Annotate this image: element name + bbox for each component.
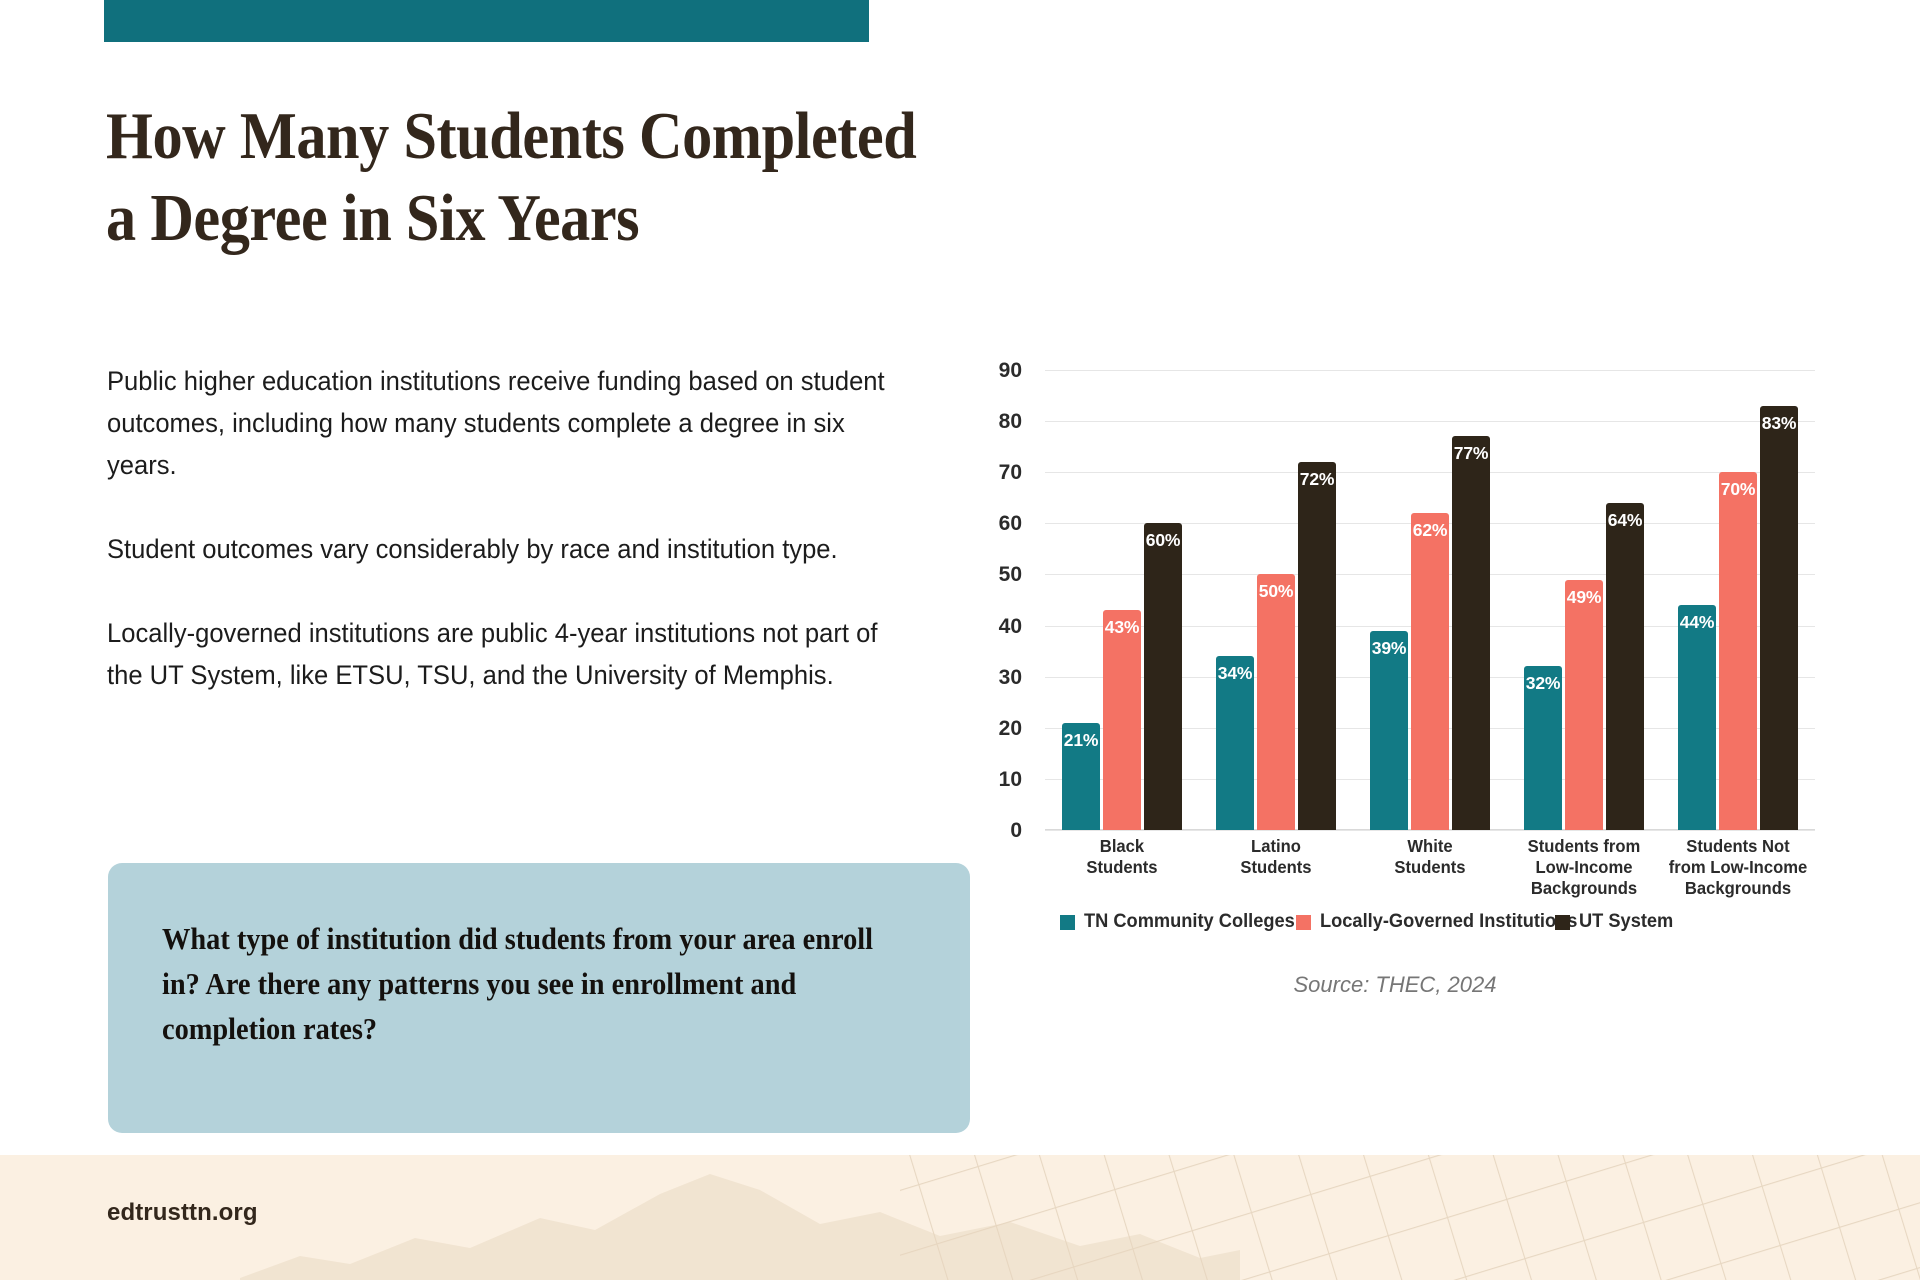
y-axis-tick-label: 60: [962, 512, 1022, 536]
bar: 60%: [1144, 523, 1182, 830]
category-label-line: Backgrounds: [1665, 878, 1811, 899]
y-axis-tick-label: 40: [962, 615, 1022, 639]
bar: 77%: [1452, 436, 1490, 830]
page-title: How Many Students Completed a Degree in …: [106, 96, 1366, 259]
x-axis-category-label: WhiteStudents: [1357, 836, 1503, 878]
bar: 62%: [1411, 513, 1449, 830]
mountain-silhouette-decoration: [240, 1160, 1240, 1280]
legend-color-swatch: [1060, 915, 1075, 930]
bar-value-label: 44%: [1678, 612, 1716, 633]
bar: 64%: [1606, 503, 1644, 830]
footer-url: edtrusttn.org: [107, 1199, 258, 1227]
category-label-line: Black: [1049, 836, 1195, 857]
legend-label: UT System: [1579, 911, 1673, 933]
bar-value-label: 43%: [1103, 617, 1141, 638]
bar-value-label: 39%: [1370, 638, 1408, 659]
title-line-1: How Many Students Completed: [106, 96, 1366, 178]
x-axis-category-label: LatinoStudents: [1203, 836, 1349, 878]
y-axis-tick-label: 30: [962, 666, 1022, 690]
bar-value-label: 72%: [1298, 469, 1336, 490]
bar-group: 32%49%64%: [1507, 370, 1661, 830]
bar-value-label: 77%: [1452, 443, 1490, 464]
paragraph-2: Student outcomes vary considerably by ra…: [107, 528, 898, 570]
legend-color-swatch: [1296, 915, 1311, 930]
category-label-line: Students from: [1511, 836, 1657, 857]
body-copy: Public higher education institutions rec…: [107, 360, 898, 696]
bar: 83%: [1760, 406, 1798, 830]
y-axis-tick-label: 70: [962, 461, 1022, 485]
x-axis-category-label: BlackStudents: [1049, 836, 1195, 878]
chart-plot-area: 010203040506070809021%43%60%BlackStudent…: [1045, 370, 1815, 830]
callout-question: What type of institution did students fr…: [162, 917, 887, 1052]
bar: 72%: [1298, 462, 1336, 830]
category-label-line: Latino: [1203, 836, 1349, 857]
legend-label: TN Community Colleges: [1084, 911, 1295, 933]
bar: 32%: [1524, 666, 1562, 830]
gridline: [1045, 830, 1815, 831]
bar-group: 21%43%60%: [1045, 370, 1199, 830]
bar-value-label: 83%: [1760, 413, 1798, 434]
bar: 43%: [1103, 610, 1141, 830]
bar: 49%: [1565, 580, 1603, 830]
bar-value-label: 64%: [1606, 510, 1644, 531]
y-axis-tick-label: 0: [962, 819, 1022, 843]
x-axis-category-label: Students fromLow-IncomeBackgrounds: [1511, 836, 1657, 899]
category-label-line: Students: [1203, 857, 1349, 878]
bar-value-label: 21%: [1062, 730, 1100, 751]
footer: edtrusttn.org: [0, 1155, 1920, 1280]
legend-item: UT System: [1555, 911, 1677, 933]
bar-value-label: 49%: [1565, 587, 1603, 608]
bar: 34%: [1216, 656, 1254, 830]
paragraph-1: Public higher education institutions rec…: [107, 360, 898, 486]
y-axis-tick-label: 20: [962, 717, 1022, 741]
legend-item: Locally-Governed Institutions: [1296, 911, 1588, 933]
title-line-2: a Degree in Six Years: [106, 178, 1366, 260]
bar-value-label: 62%: [1411, 520, 1449, 541]
bar-value-label: 60%: [1144, 530, 1182, 551]
category-label-line: White: [1357, 836, 1503, 857]
y-axis-tick-label: 10: [962, 768, 1022, 792]
chart-source: Source: THEC, 2024: [1000, 972, 1790, 998]
bar: 21%: [1062, 723, 1100, 830]
category-label-line: Backgrounds: [1511, 878, 1657, 899]
bar-value-label: 50%: [1257, 581, 1295, 602]
category-label-line: Students: [1049, 857, 1195, 878]
bar: 44%: [1678, 605, 1716, 830]
category-label-line: Low-Income: [1511, 857, 1657, 878]
y-axis-tick-label: 90: [962, 359, 1022, 383]
bar-group: 44%70%83%: [1661, 370, 1815, 830]
category-label-line: from Low-Income: [1665, 857, 1811, 878]
y-axis-tick-label: 50: [962, 563, 1022, 587]
category-label-line: Students Not: [1665, 836, 1811, 857]
bar-group: 34%50%72%: [1199, 370, 1353, 830]
bar: 50%: [1257, 574, 1295, 830]
bar: 70%: [1719, 472, 1757, 830]
bar-group: 39%62%77%: [1353, 370, 1507, 830]
bar-value-label: 70%: [1719, 479, 1757, 500]
discussion-callout-box: What type of institution did students fr…: [108, 863, 970, 1133]
bar-chart: 010203040506070809021%43%60%BlackStudent…: [1000, 370, 1830, 1030]
top-accent-bar: [104, 0, 869, 42]
legend-color-swatch: [1555, 915, 1570, 930]
bar: 39%: [1370, 631, 1408, 830]
y-axis-tick-label: 80: [962, 410, 1022, 434]
x-axis-category-label: Students Notfrom Low-IncomeBackgrounds: [1665, 836, 1811, 899]
bar-value-label: 34%: [1216, 663, 1254, 684]
category-label-line: Students: [1357, 857, 1503, 878]
paragraph-3: Locally-governed institutions are public…: [107, 612, 898, 696]
legend-label: Locally-Governed Institutions: [1320, 911, 1577, 933]
bar-value-label: 32%: [1524, 673, 1562, 694]
legend-item: TN Community Colleges: [1060, 911, 1304, 933]
